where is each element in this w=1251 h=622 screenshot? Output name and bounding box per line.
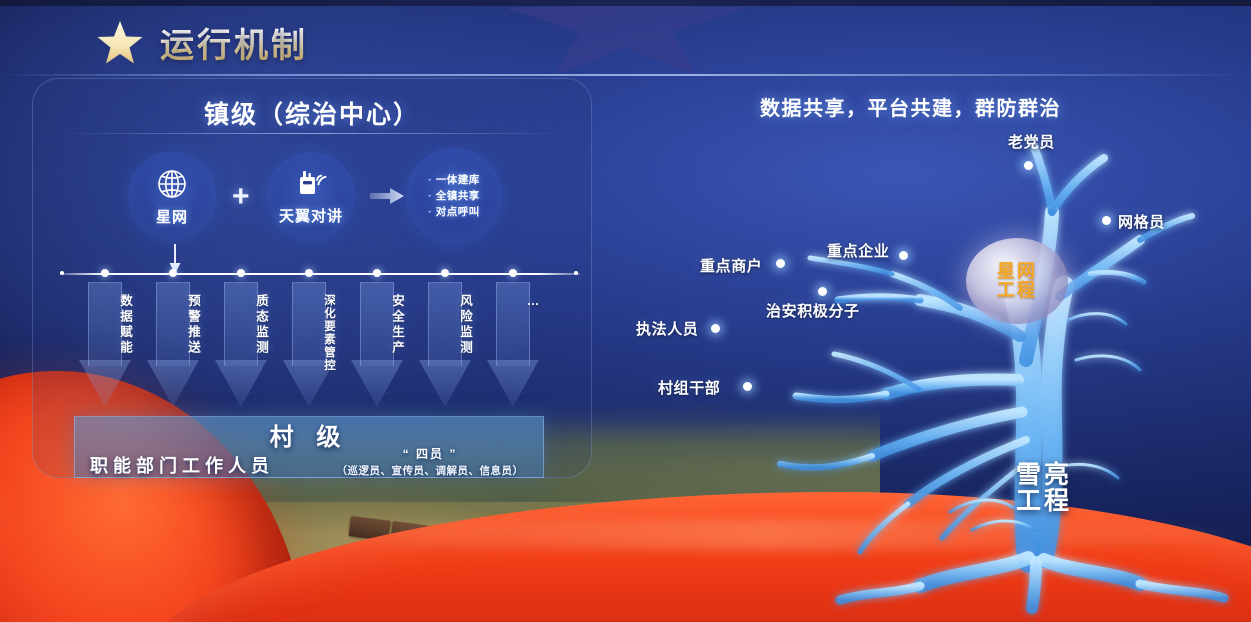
core-sphere[interactable]: 星网 工程 [966, 238, 1068, 324]
node-label-wanggeyuan[interactable]: 网格员 [1118, 211, 1165, 232]
node-label-cunzuganbu[interactable]: 村组干部 [658, 377, 720, 398]
function-arrows: 数据赋能 预警推送 质态监测 深化要素管控 安全生产 风险监测 … [60, 282, 580, 412]
timeline-axis [60, 271, 580, 277]
corner-line-1: 雪亮 [1016, 461, 1072, 489]
node-label-laodangyuan[interactable]: 老党员 [1008, 131, 1055, 152]
top-band [0, 0, 1251, 6]
village-right-group: “ 四员 ” （巡逻员、宣传员、调解员、信息员） [320, 445, 540, 478]
arrow-item[interactable]: 深化要素管控 [283, 282, 335, 407]
village-four-members-detail: （巡逻员、宣传员、调解员、信息员） [320, 463, 540, 478]
arrow-label: … [487, 294, 539, 311]
corner-project-text: 雪亮 工程 [1016, 462, 1072, 515]
corner-line-2: 工程 [1016, 487, 1072, 515]
benefits-list: 一体建库 全镇共享 对点呼叫 [428, 172, 479, 220]
node-label-zhifarenyuan[interactable]: 执法人员 [636, 318, 698, 339]
arrow-item[interactable]: 安全生产 [351, 282, 403, 407]
core-line-1: 星网 [997, 261, 1037, 281]
timeline-dot [509, 269, 517, 277]
arrow-right-icon [370, 188, 404, 204]
globe-icon [154, 166, 190, 202]
arrow-label: 预警推送 [147, 294, 199, 356]
timeline-dot [441, 269, 449, 277]
arrow-item[interactable]: 质态监测 [215, 282, 267, 407]
arrow-item[interactable]: 风险监测 [419, 282, 471, 407]
node-dot-wanggeyuan[interactable] [1102, 216, 1111, 225]
benefit-item: 一体建库 [428, 172, 479, 188]
benefit-item: 对点呼叫 [428, 204, 479, 220]
timeline-dot [101, 269, 109, 277]
platform-row: 星网 + 天翼对讲 [32, 152, 592, 244]
node-dot-zhianjijifenzi[interactable] [818, 287, 827, 296]
node-xingwang[interactable]: 星网 [128, 152, 216, 240]
node-label-zhianjijifenzi[interactable]: 治安积极分子 [766, 300, 860, 321]
arrow-label: 风险监测 [419, 294, 471, 356]
poster-canvas: 运行机制 镇级（综治中心） 星网 + [0, 0, 1251, 622]
page-title: 运行机制 [160, 18, 308, 67]
timeline-dot [169, 269, 177, 277]
timeline-line [60, 273, 580, 275]
village-left-label: 职能部门工作人员 [90, 452, 274, 478]
star-icon [96, 19, 144, 67]
timeline-dot [237, 269, 245, 277]
node-dot-zhifarenyuan[interactable] [711, 324, 720, 333]
arrow-label: 质态监测 [215, 294, 267, 356]
node-label-zhongdianshanghu[interactable]: 重点商户 [700, 255, 762, 276]
node-dot-laodangyuan[interactable] [1024, 161, 1033, 170]
page-title-row: 运行机制 [96, 18, 308, 67]
arrow-label: 深化要素管控 [283, 294, 335, 372]
walkie-talkie-icon [292, 167, 330, 201]
node-tianyi-intercom[interactable]: 天翼对讲 [267, 152, 355, 240]
node-tianyi-label: 天翼对讲 [279, 205, 343, 226]
arrow-label: 安全生产 [351, 294, 403, 356]
neural-tree-diagram [620, 60, 1251, 622]
timeline-dot [373, 269, 381, 277]
node-dot-zhongdianqiye[interactable] [899, 251, 908, 260]
benefit-item: 全镇共享 [428, 188, 479, 204]
right-slogan: 数据共享，平台共建，群防群治 [760, 92, 1061, 121]
node-label-zhongdianqiye[interactable]: 重点企业 [827, 240, 889, 261]
node-dot-cunzuganbu[interactable] [743, 382, 752, 391]
plus-sign: + [232, 182, 250, 212]
arrow-item[interactable]: 数据赋能 [79, 282, 131, 407]
core-sphere-text: 星网 工程 [997, 262, 1037, 299]
benefits-bubble[interactable]: 一体建库 全镇共享 对点呼叫 [406, 148, 502, 244]
arrow-item[interactable]: 预警推送 [147, 282, 199, 407]
township-heading: 镇级（综治中心） [32, 95, 592, 131]
timeline-dot [305, 269, 313, 277]
node-dot-zhongdianshanghu[interactable] [776, 259, 785, 268]
core-line-2: 工程 [997, 280, 1037, 300]
arrow-label: 数据赋能 [79, 294, 131, 356]
arrow-item[interactable]: … [487, 282, 539, 407]
node-xingwang-label: 星网 [156, 206, 188, 227]
heading-rule [60, 133, 565, 134]
village-four-members-title: “ 四员 ” [320, 445, 540, 462]
